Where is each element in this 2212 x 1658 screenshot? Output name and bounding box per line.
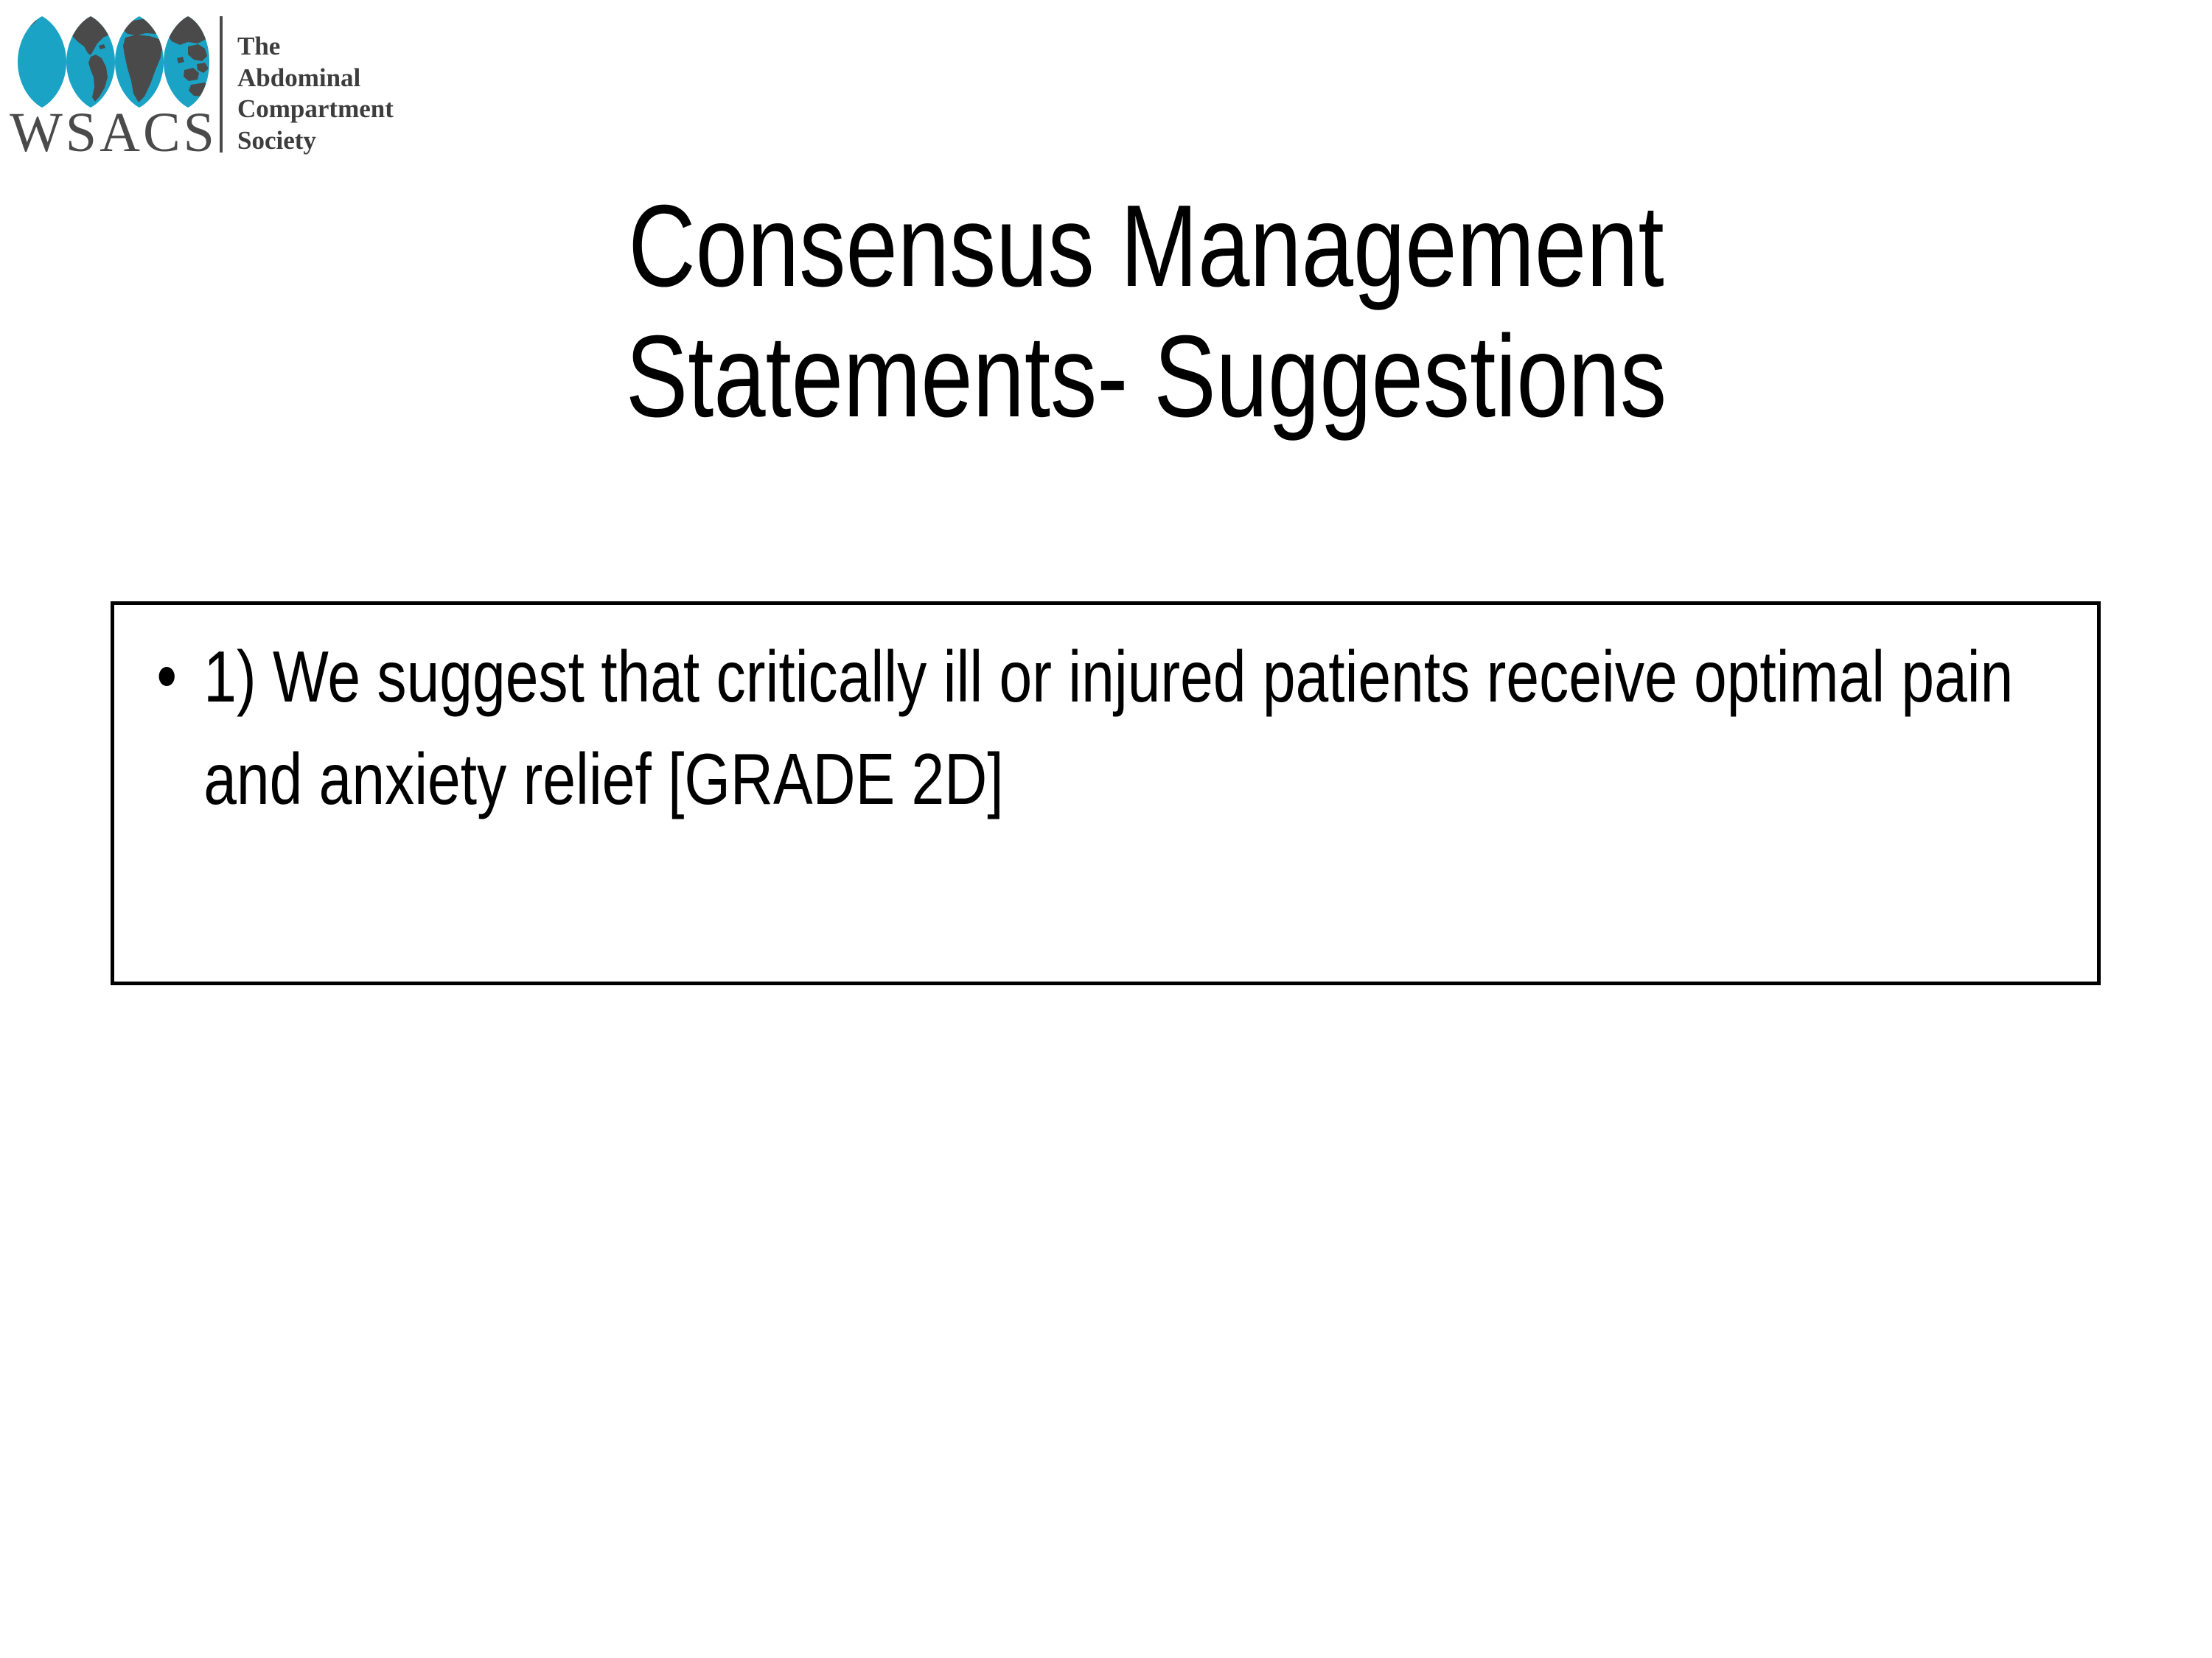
- bullet-dot-icon: [159, 667, 175, 686]
- wsacs-logo-block: WSACS The Abdominal Compartment Society: [13, 15, 411, 155]
- logo-divider: [220, 16, 223, 153]
- bullet-list: 1) We suggest that critically ill or inj…: [154, 626, 2075, 830]
- wsacs-globe-logo-icon: [15, 15, 212, 109]
- list-item-text: 1) We suggest that critically ill or inj…: [203, 626, 2089, 830]
- page-title: Consensus Management Statements- Suggest…: [424, 181, 1869, 442]
- society-name: The Abdominal Compartment Society: [237, 15, 394, 157]
- wsacs-logo-mark: WSACS: [13, 15, 214, 159]
- list-item: 1) We suggest that critically ill or inj…: [154, 626, 2090, 830]
- content-box: 1) We suggest that critically ill or inj…: [111, 601, 2101, 985]
- wsacs-wordmark: WSACS: [10, 106, 217, 159]
